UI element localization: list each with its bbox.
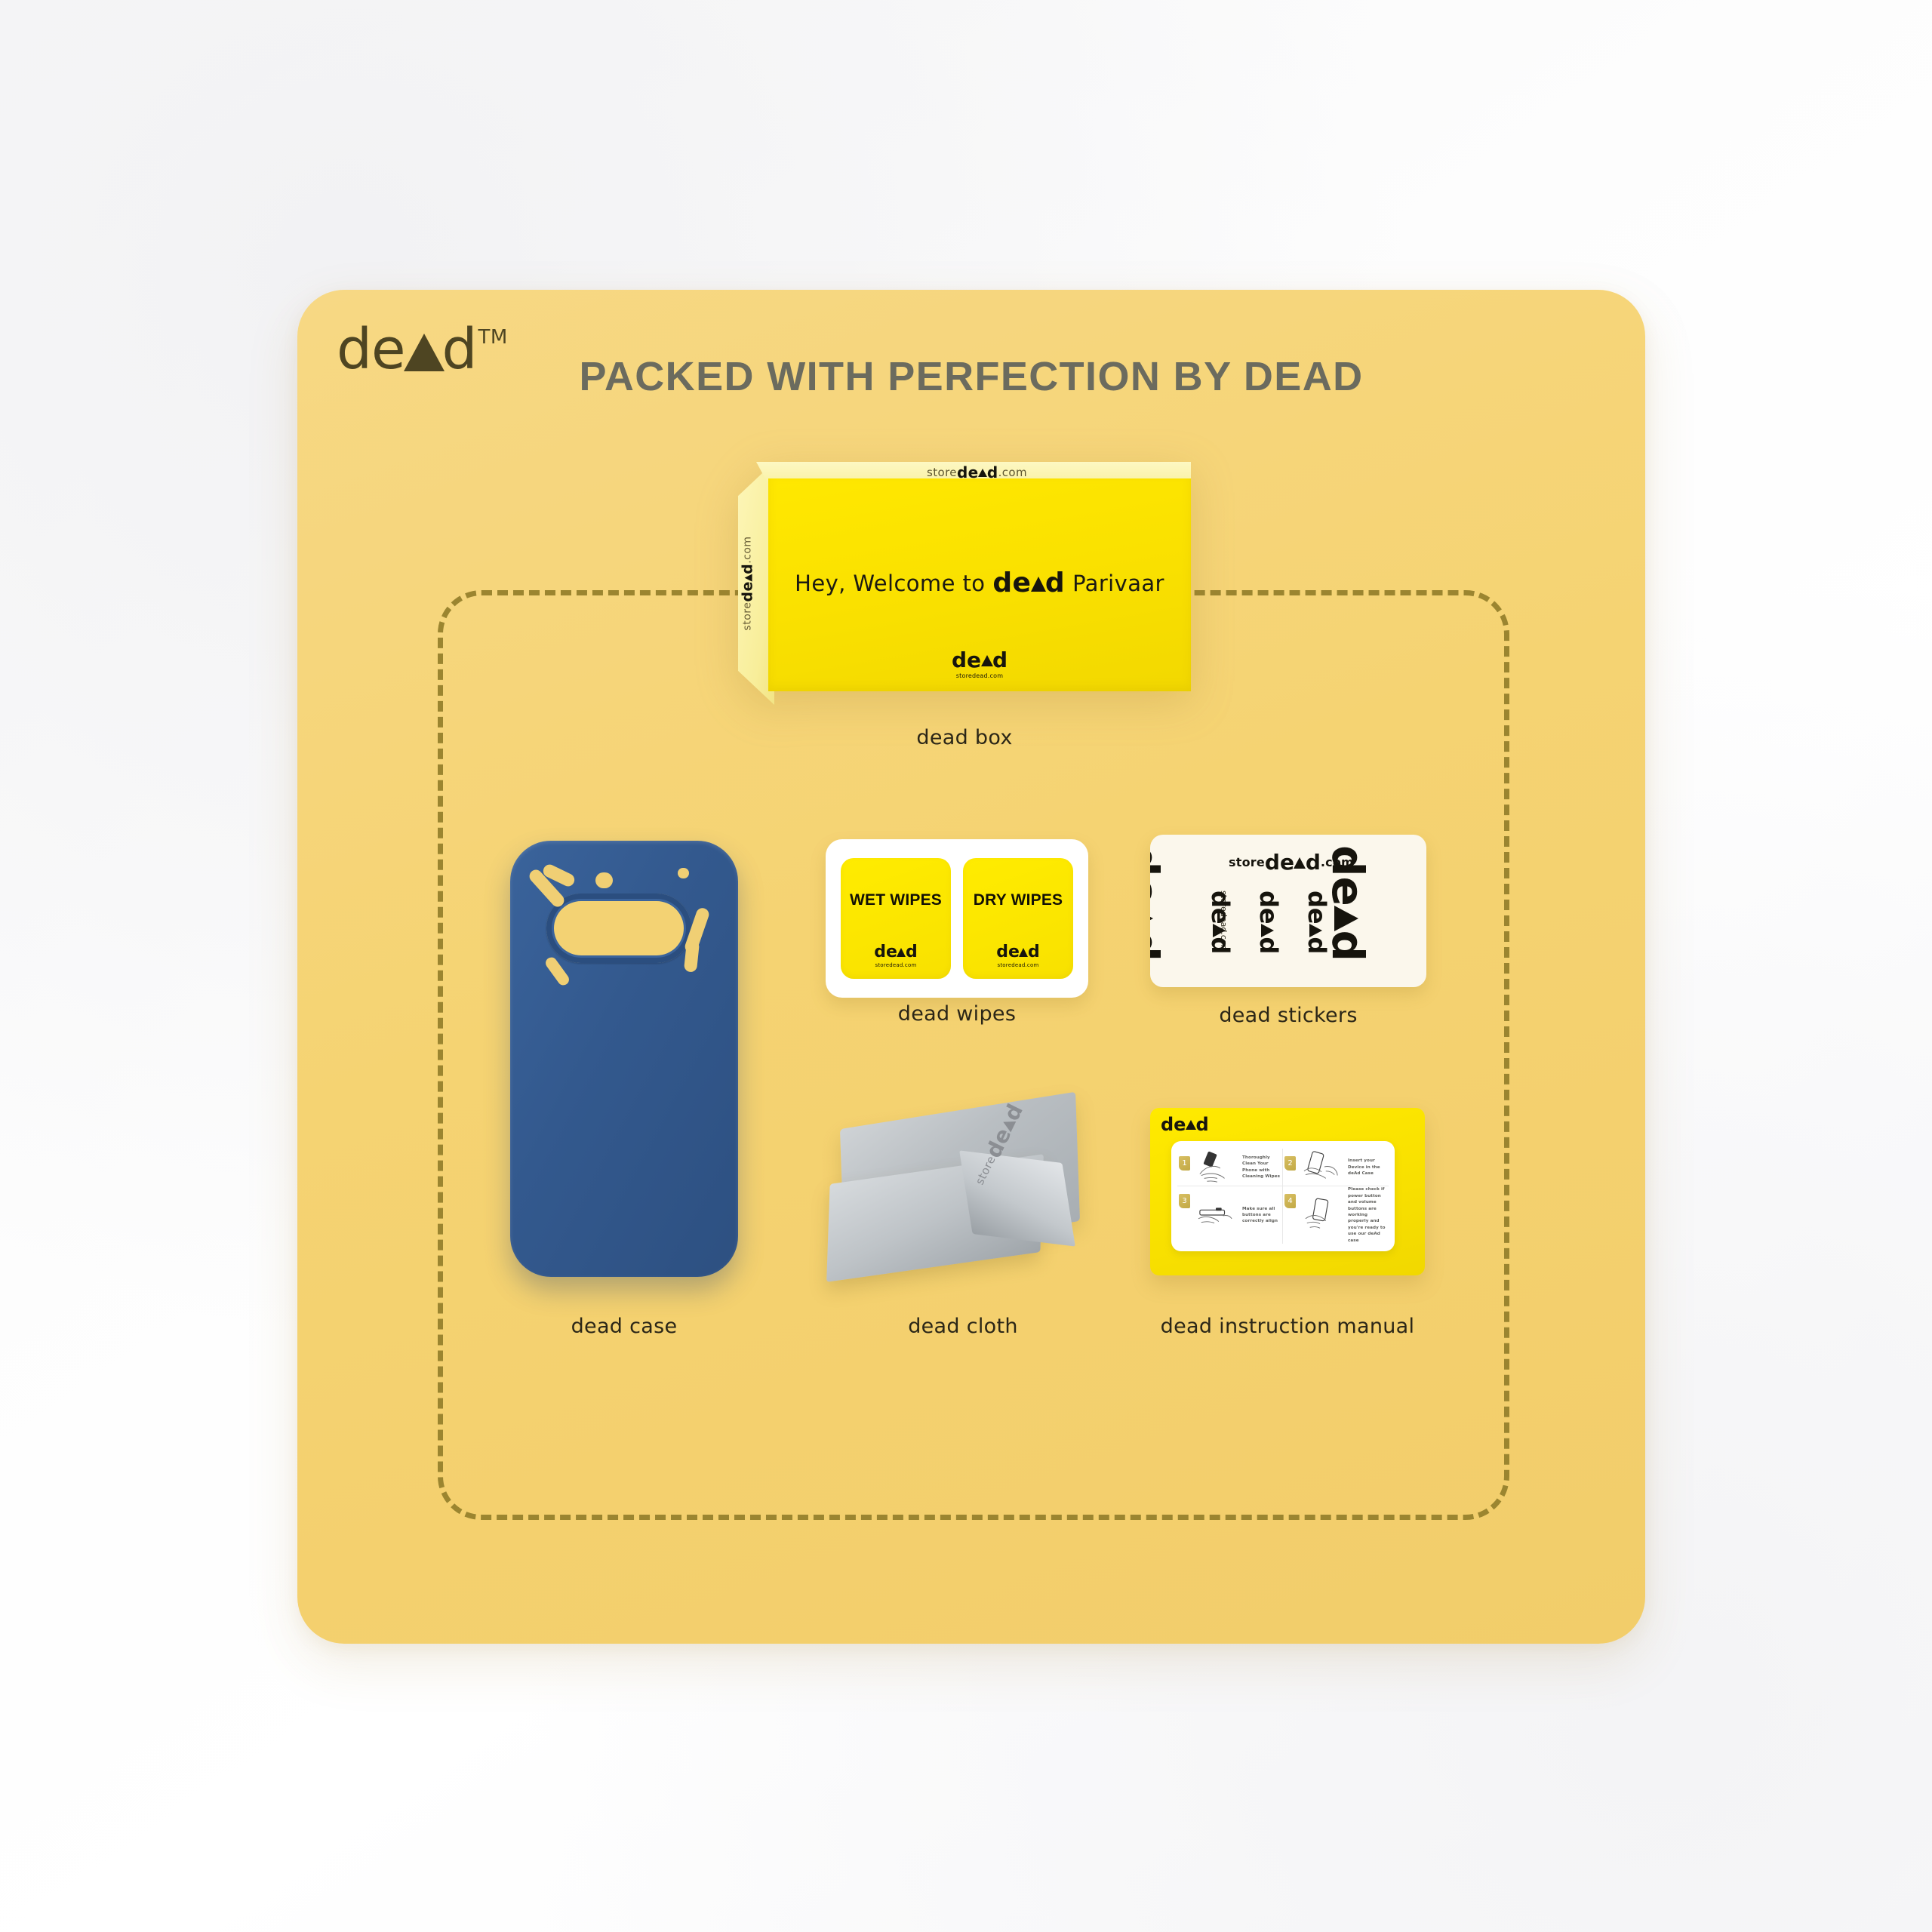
wet-wipes-url: storedead.com (841, 962, 951, 968)
camera-cutout (546, 894, 691, 963)
triangle-icon (744, 574, 752, 582)
check-buttons-illustration (1194, 1197, 1238, 1233)
box-side-url: store de d .com (740, 536, 756, 630)
page-title: PACKED WITH PERFECTION BY DEAD (297, 353, 1645, 400)
box-welcome-message: Hey, Welcome to de d Parivaar (768, 568, 1191, 598)
triangle-icon (1261, 924, 1274, 937)
ready-to-use-illustration (1300, 1197, 1343, 1233)
caption-dead-stickers: dead stickers (1150, 1004, 1426, 1027)
decor-mark (595, 872, 613, 888)
dead-instruction-manual: de d 1 Thoroughly Clean Your Phone with … (1150, 1108, 1425, 1275)
box-top-url: store de d .com (927, 463, 1027, 481)
dead-stickers: de d de d store de d .com storedead.com … (1150, 835, 1426, 987)
manual-step-3: 3 Make sure all buttons are correctly al… (1177, 1186, 1283, 1244)
insert-device-illustration (1300, 1149, 1343, 1186)
manual-step-4: 4 Please check if power button and volum… (1283, 1186, 1389, 1244)
clean-phone-illustration (1194, 1149, 1238, 1186)
manual-step-2-text: Insert your Device in the deAd Case (1343, 1158, 1389, 1177)
triangle-icon (1150, 906, 1153, 931)
sticker-small-2: de d (1254, 891, 1283, 954)
box-top-url-logo: de d (957, 463, 998, 481)
caption-dead-box: dead box (738, 726, 1191, 749)
caption-dead-case: dead case (510, 1315, 738, 1338)
manual-logo: de d (1161, 1114, 1209, 1135)
wet-wipes-sachet: WET WIPES de d storedead.com (841, 858, 951, 979)
caption-dead-cloth: dead cloth (827, 1315, 1099, 1338)
box-footer-logo: de d storedead.com (768, 648, 1191, 679)
dead-box: store de d .com store de d .com Hey, Wel… (738, 462, 1191, 705)
triangle-icon (1031, 577, 1046, 592)
triangle-icon (1334, 906, 1358, 931)
manual-step-1: 1 Thoroughly Clean Your Phone with Clean… (1177, 1149, 1283, 1186)
box-headline-logo: de d (992, 568, 1065, 598)
decor-mark (684, 940, 700, 973)
sticker-large-left: de d (1150, 845, 1168, 961)
triangle-icon (1186, 1120, 1196, 1130)
wet-wipes-logo: de d storedead.com (841, 943, 951, 968)
step-number-badge: 3 (1179, 1194, 1190, 1208)
sticker-small-3: de d (1303, 891, 1331, 954)
dry-wipes-logo: de d storedead.com (963, 943, 1073, 968)
wet-wipes-label: WET WIPES (841, 891, 951, 909)
manual-step-1-text: Thoroughly Clean Your Phone with Cleanin… (1238, 1155, 1282, 1180)
triangle-icon (897, 948, 906, 957)
manual-step-3-text: Make sure all buttons are correctly alig… (1238, 1206, 1282, 1225)
dry-wipes-url: storedead.com (963, 962, 1073, 968)
caption-dead-instruction-manual: dead instruction manual (1135, 1315, 1440, 1338)
triangle-icon (1309, 924, 1322, 937)
manual-sheet: 1 Thoroughly Clean Your Phone with Clean… (1171, 1141, 1395, 1251)
triangle-icon (1019, 948, 1028, 957)
dead-cloth: store de d (827, 1111, 1099, 1278)
caption-dead-wipes: dead wipes (826, 1002, 1088, 1026)
box-side-url-logo: de d (740, 564, 756, 602)
dry-wipes-sachet: DRY WIPES de d storedead.com (963, 858, 1073, 979)
case-body (510, 841, 738, 1277)
step-number-badge: 1 (1179, 1156, 1190, 1171)
step-number-badge: 4 (1284, 1194, 1296, 1208)
dead-case (510, 841, 738, 1277)
sticker-url: store de d .com (1229, 850, 1354, 875)
step-number-badge: 2 (1284, 1156, 1296, 1171)
box-footer-url: storedead.com (768, 672, 1191, 679)
decor-mark (678, 868, 689, 878)
sticker-small-1: de d (1206, 891, 1235, 954)
trademark-symbol: TM (478, 326, 507, 349)
triangle-icon (1213, 924, 1226, 937)
dead-wipes: WET WIPES de d storedead.com DRY WIPES d… (826, 839, 1088, 998)
triangle-icon (981, 655, 993, 666)
manual-step-4-text: Please check if power button and volume … (1343, 1186, 1389, 1244)
dry-wipes-label: DRY WIPES (963, 891, 1073, 909)
triangle-icon (1294, 857, 1306, 869)
manual-step-2: 2 Insert your Device in the deAd Case (1283, 1149, 1389, 1186)
triangle-icon (978, 469, 987, 477)
